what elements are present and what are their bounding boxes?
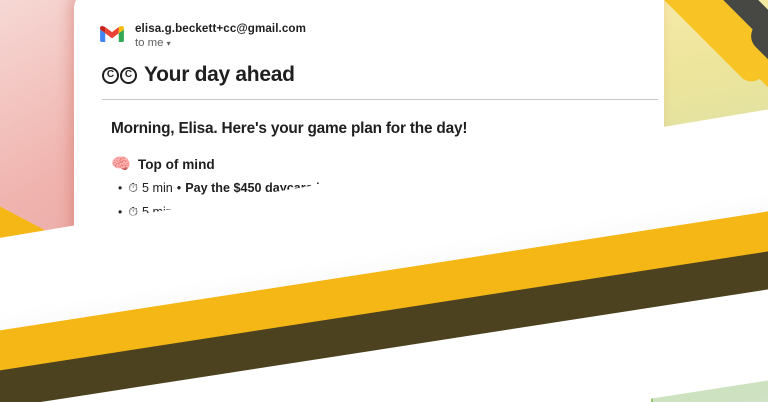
chevron-down-icon[interactable]: ▾ xyxy=(167,39,171,48)
screenshot-canvas: elisa.g.beckett+cc@gmail.com to me ▾ C C… xyxy=(0,0,768,402)
email-subject-row: C C Your day ahead xyxy=(100,63,642,87)
brain-icon: 🧠 xyxy=(111,154,131,174)
recipient-label: to me xyxy=(135,37,164,49)
clock-icon: ⏱ xyxy=(128,182,138,195)
header-divider xyxy=(102,99,658,100)
copyright-circle-icon-2: C xyxy=(120,67,137,84)
task-separator: • xyxy=(177,182,181,195)
task-duration: 5 min xyxy=(142,182,173,195)
brand-mark-group: C C xyxy=(102,67,137,84)
email-sender-row: elisa.g.beckett+cc@gmail.com to me ▾ xyxy=(100,0,642,50)
sender-email-address[interactable]: elisa.g.beckett+cc@gmail.com xyxy=(135,22,306,36)
gmail-logo xyxy=(100,25,124,44)
recipient-line[interactable]: to me ▾ xyxy=(135,37,306,50)
copyright-circle-icon-1: C xyxy=(102,67,119,84)
bullet-marker: • xyxy=(118,182,122,195)
email-subject-title: Your day ahead xyxy=(144,63,295,87)
greeting-text: Morning, Elisa. Here's your game plan fo… xyxy=(100,120,642,138)
section-header-label: Top of mind xyxy=(138,157,215,172)
